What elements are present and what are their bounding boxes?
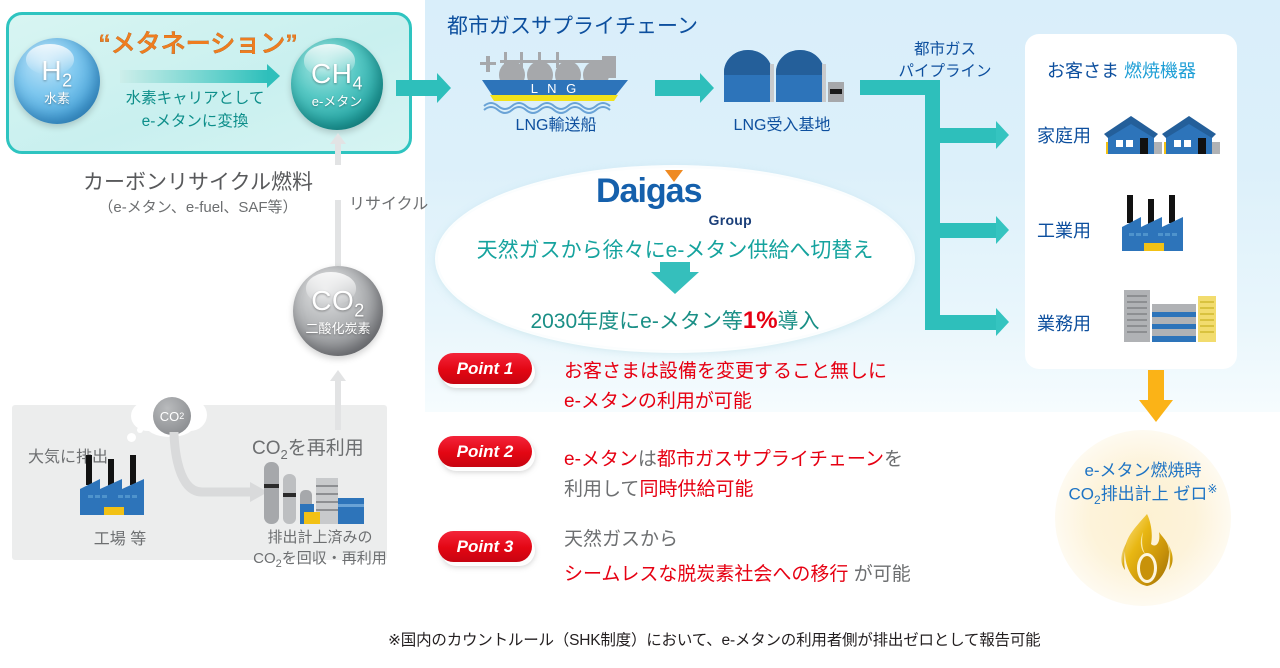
daigas-down-arrow-icon	[651, 272, 699, 294]
footnote: ※国内のカウントルール（SHK制度）において、e-メタンの利用者側が排出ゼロとし…	[388, 628, 1040, 650]
point-3-badge: Point 3	[438, 531, 532, 562]
methane-symbol: CH4	[311, 58, 363, 95]
point-1-badge: Point 1	[438, 353, 532, 384]
customer-row-industrial-label: 工業用	[1037, 220, 1091, 243]
co2-label: 二酸化炭素	[305, 318, 370, 337]
commercial-buildings-icon	[1122, 290, 1222, 346]
recycle-label: リサイクル	[349, 195, 428, 215]
recycle-line-upper	[335, 143, 341, 165]
hydrogen-symbol: H2	[41, 55, 72, 92]
point-1-line-2: e-メタンの利用が可能	[564, 390, 752, 414]
recycling-plant-icon	[262, 460, 367, 532]
pipeline-trunk-vertical	[925, 80, 940, 330]
reuse-caption-line1: 排出計上済みの	[244, 528, 396, 547]
customer-equipment-title: お客さま 燃焼機器	[1047, 60, 1196, 83]
point-1-line-1: お客さまは設備を変更すること無しに	[564, 360, 887, 384]
lng-terminal-icon	[722, 50, 844, 108]
conversion-arrow-icon	[120, 70, 268, 83]
e-methane-sphere: CH4 e-メタン	[291, 38, 383, 130]
lng-terminal-label: LNG受入基地	[712, 116, 852, 136]
pipeline-branch-commercial-arrow-icon	[935, 315, 997, 330]
lng-ship-label: LNG輸送船	[486, 116, 626, 136]
methane-label: e-メタン	[312, 91, 363, 110]
point-3-line-1: 天然ガスから	[564, 528, 678, 552]
carbon-recycle-fuel-title: カーボンリサイクル燃料	[48, 170, 348, 197]
lng-ship-badge: L N G	[531, 81, 579, 96]
recycle-line	[335, 200, 341, 266]
zero-emission-line2: CO2排出計上 ゼロ※	[1055, 482, 1231, 508]
hydrogen-sphere: H2 水素	[14, 38, 100, 124]
methanation-title-text: “メタネーション”	[88, 28, 308, 60]
customer-row-commercial-label: 業務用	[1037, 313, 1091, 336]
point-2-line-2: 利用して同時供給可能	[564, 478, 753, 502]
recycle-arrow-icon	[330, 133, 346, 144]
pipeline-branch-industrial-arrow-icon	[935, 223, 997, 238]
conversion-caption-line2: e-メタンに変換	[110, 112, 280, 132]
carbon-recycle-fuel-subtitle: （e-メタン、e-fuel、SAF等）	[48, 198, 348, 217]
capture-line	[335, 380, 341, 430]
flame-icon	[1117, 512, 1177, 592]
point-3-line-2: シームレスな脱炭素社会への移行 が可能	[564, 563, 911, 587]
hydrogen-label: 水素	[44, 88, 70, 107]
daigas-headline: 天然ガスから徐々にe-メタン供給へ切替え	[438, 238, 912, 265]
combustion-arrow-head-icon	[1139, 400, 1173, 422]
pipeline-branch-residential-arrow-icon	[935, 128, 997, 143]
combustion-arrow-shaft	[1148, 370, 1164, 402]
co2-symbol: CO2	[311, 285, 365, 322]
daigas-group-text: Group	[709, 212, 753, 228]
co2-sphere: CO2 二酸化炭素	[293, 266, 383, 356]
zero-emission-asterisk: ※	[1207, 482, 1217, 496]
daigas-logo: Daigas Group	[596, 172, 756, 226]
pipeline-label-line1: 都市ガス	[890, 40, 1000, 60]
factory-label: 工場 等	[70, 530, 170, 550]
ship-to-terminal-arrow-icon	[655, 80, 701, 96]
point-2-badge: Point 2	[438, 436, 532, 467]
zero-emission-line1: e-メタン燃焼時	[1055, 460, 1231, 482]
methane-to-supplychain-arrow-icon	[396, 80, 438, 96]
pipeline-label-line2: パイプライン	[880, 62, 1010, 82]
houses-icon	[1104, 112, 1220, 160]
factory-icon	[78, 455, 164, 525]
daigas-down-arrow-shaft	[660, 262, 690, 274]
infographic-canvas: “メタネーション” “メタネーション” H2 水素 CH4 e-メタン 水素キャ…	[0, 0, 1280, 668]
point-2-line-1: e-メタンは都市ガスサプライチェーンを	[564, 448, 903, 472]
reuse-caption-line2: CO2を回収・再利用	[244, 549, 396, 571]
supply-chain-title: 都市ガスサプライチェーン	[447, 14, 698, 41]
conversion-caption-line1: 水素キャリアとして	[110, 89, 280, 109]
daigas-triangle-icon	[665, 170, 683, 182]
lng-ship-icon: L N G	[476, 48, 636, 110]
capture-arrow-icon	[330, 370, 346, 381]
daigas-target: 2030年度にe-メタン等1%導入	[438, 306, 912, 337]
factory-icon	[1120, 195, 1204, 257]
customer-row-residential-label: 家庭用	[1037, 125, 1091, 148]
